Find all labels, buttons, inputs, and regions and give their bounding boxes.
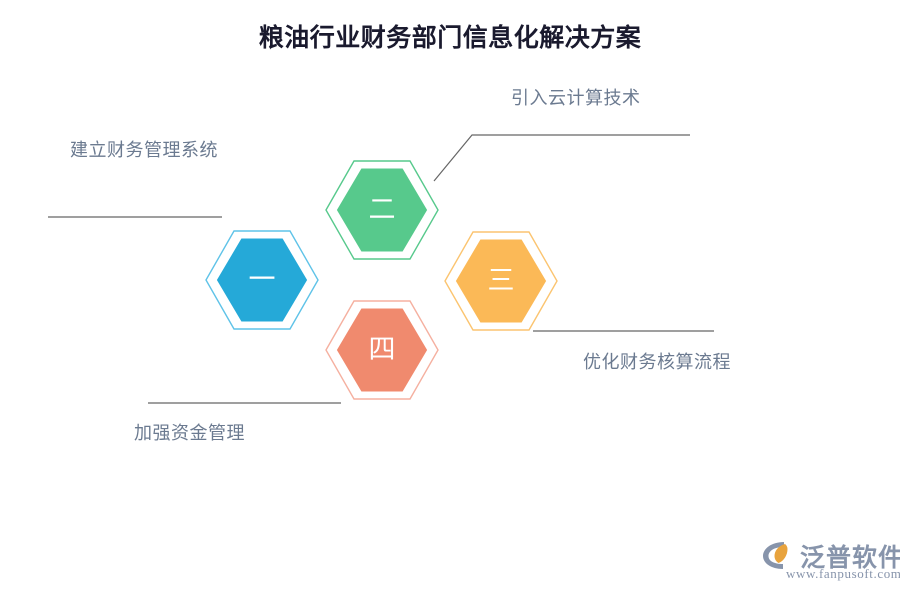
- callout-label-1: 建立财务管理系统: [70, 136, 218, 162]
- hexagon-1-fill: [214, 236, 310, 324]
- hexagon-node-4[interactable]: [326, 301, 438, 399]
- callout-label-4: 加强资金管理: [134, 419, 245, 445]
- brand-url: www.fanpusoft.com: [786, 566, 900, 582]
- slide-canvas: 粮油行业财务部门信息化解决方案 一: [0, 0, 900, 600]
- brand-logo: 泛普软件 www.fanpusoft.com: [762, 538, 892, 586]
- hexagon-diagram: [0, 0, 900, 600]
- callout-label-3: 优化财务核算流程: [583, 348, 731, 374]
- hexagon-3-fill: [453, 237, 549, 325]
- hexagon-2-fill: [334, 166, 430, 254]
- connector-line-2: [434, 135, 690, 181]
- callout-label-2: 引入云计算技术: [511, 84, 641, 110]
- hexagon-node-3[interactable]: [445, 232, 557, 330]
- hexagon-4-fill: [334, 306, 430, 394]
- hexagon-node-2[interactable]: [326, 161, 438, 259]
- hexagon-node-1[interactable]: [206, 231, 318, 329]
